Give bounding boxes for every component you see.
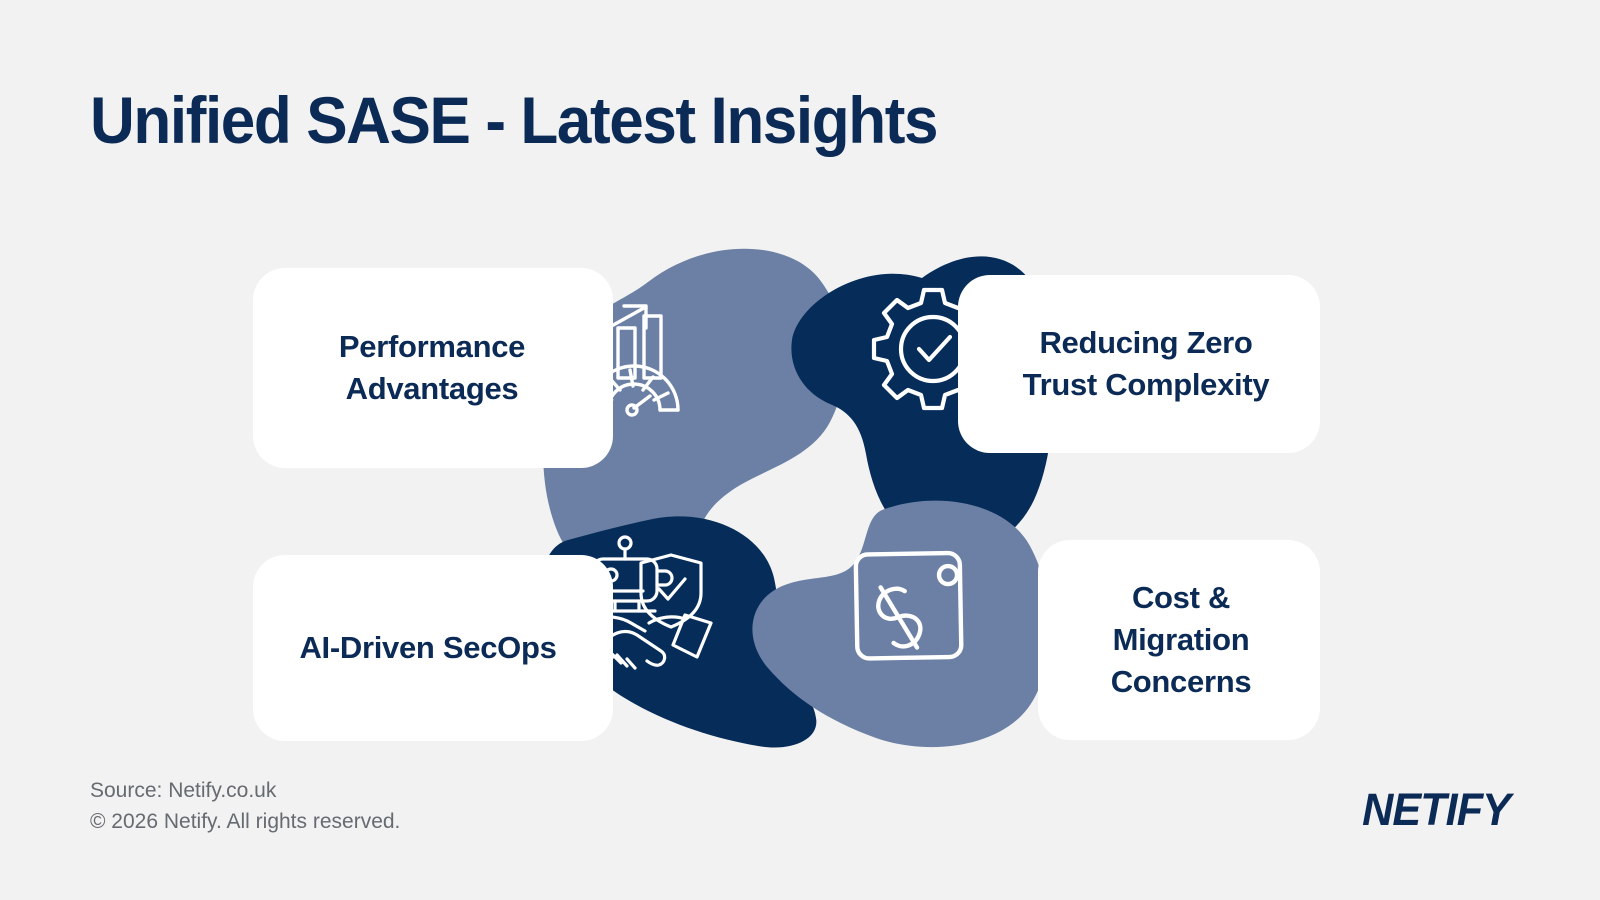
diagram-stage: Performance Advantages Reducing Zero Tru… [0,230,1600,760]
card-label-reducing-zero-trust-complexity: Reducing Zero Trust Complexity [1000,322,1292,406]
card-performance-advantages[interactable]: Performance Advantages [253,268,613,468]
footer-source: Source: Netify.co.uk [90,775,276,808]
price-tag-dollar-icon [838,542,988,692]
footer-copyright: © 2026 Netify. All rights reserved. [90,806,400,839]
card-label-ai-driven-secops: AI-Driven SecOps [283,627,573,669]
netify-logo: NETIFY [1362,784,1510,836]
card-reducing-zero-trust-complexity[interactable]: Reducing Zero Trust Complexity [958,275,1320,453]
card-label-cost-migration-concerns: Cost & Migration Concerns [1064,577,1298,703]
card-ai-driven-secops[interactable]: AI-Driven SecOps [253,555,613,741]
card-label-performance-advantages: Performance Advantages [287,326,577,410]
page-title: Unified SASE - Latest Insights [90,86,937,155]
card-cost-migration-concerns[interactable]: Cost & Migration Concerns [1038,540,1320,740]
